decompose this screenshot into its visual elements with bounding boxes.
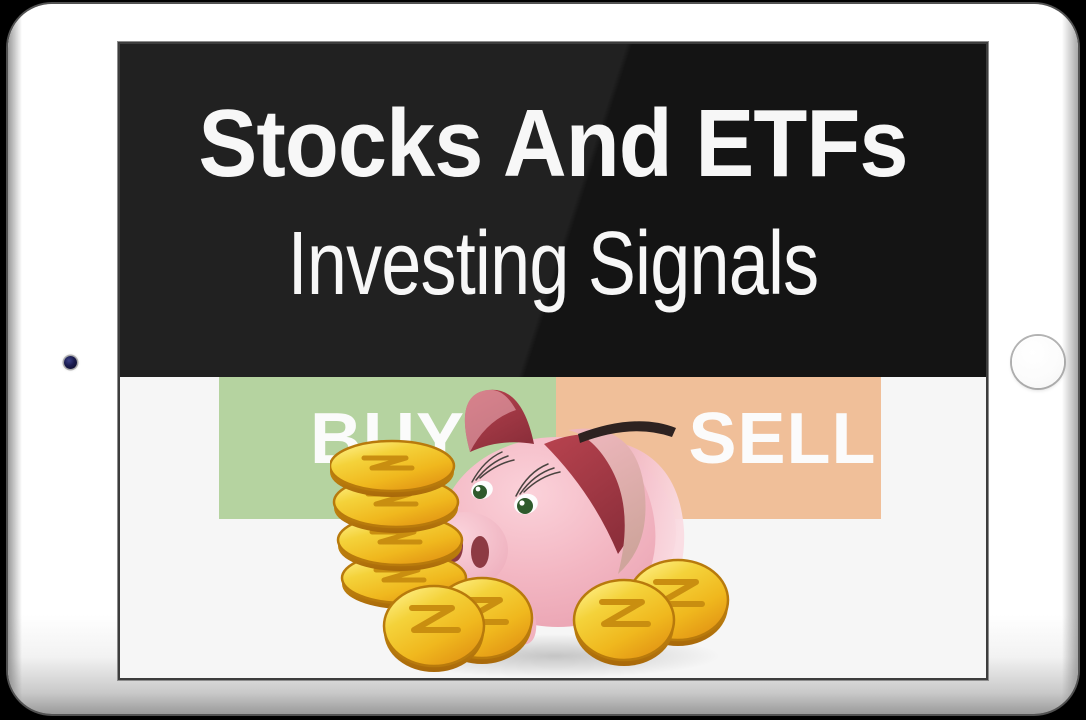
front-camera-icon	[64, 356, 77, 369]
header-banner: Stocks And ETFs Investing Signals	[120, 44, 986, 377]
coin-stack	[330, 441, 466, 609]
page-subtitle: Investing Signals	[207, 219, 900, 309]
piggy-nostril-right	[471, 536, 489, 568]
coin	[384, 586, 484, 672]
coin	[330, 441, 454, 497]
page-title: Stocks And ETFs	[155, 96, 952, 192]
piggy-bank-illustration	[330, 374, 750, 678]
coin	[574, 580, 674, 666]
home-button[interactable]	[1012, 336, 1064, 388]
tablet-screen: Stocks And ETFs Investing Signals BUY SE…	[120, 44, 986, 678]
tablet-device: Stocks And ETFs Investing Signals BUY SE…	[8, 4, 1078, 714]
